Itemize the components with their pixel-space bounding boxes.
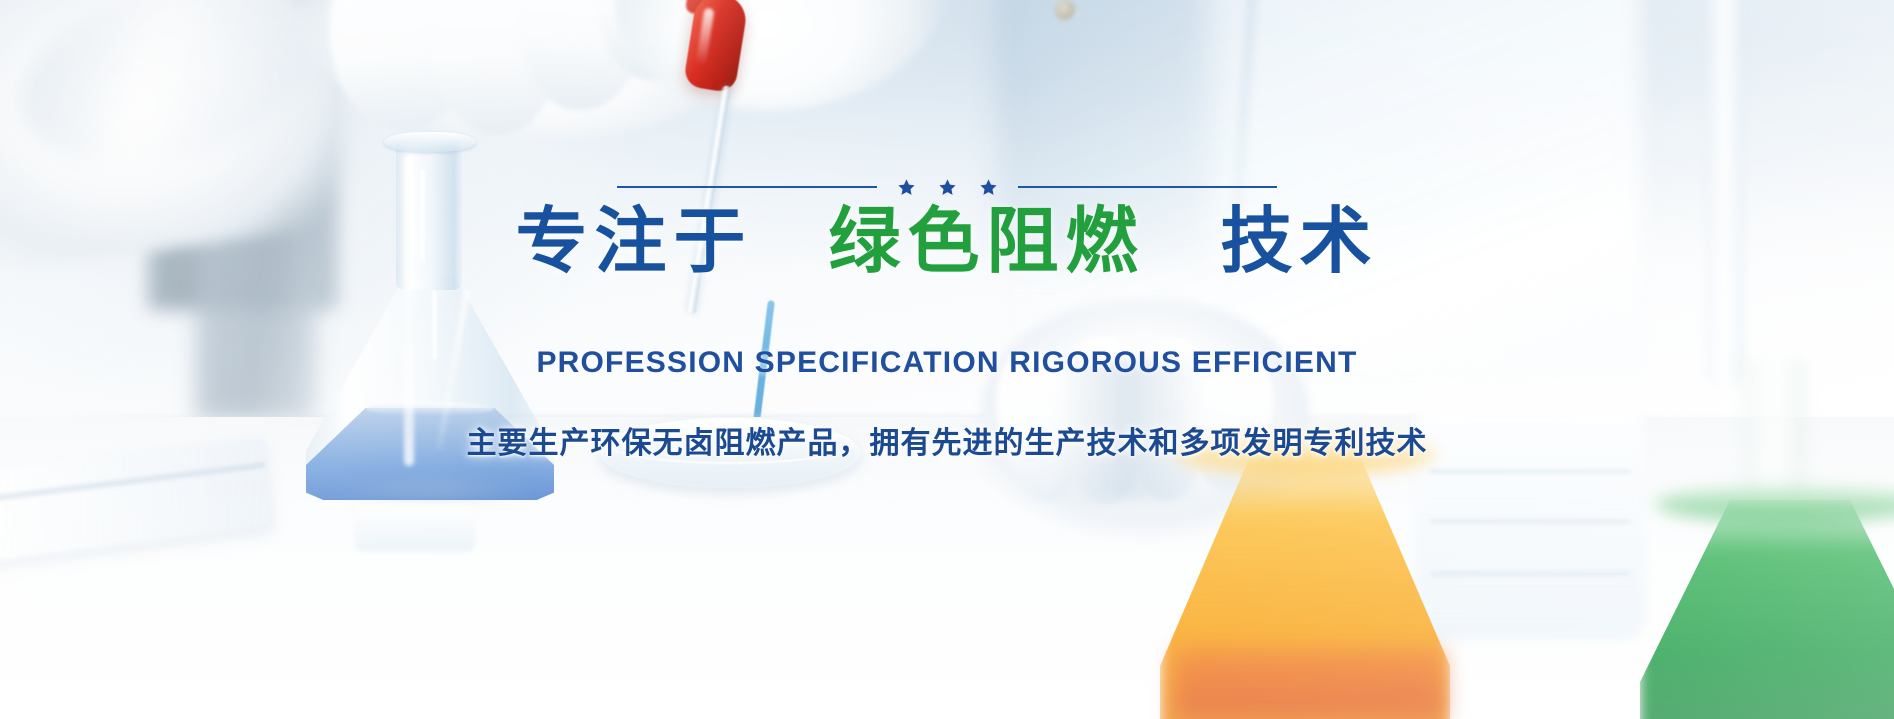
- headline-part-2: 绿色阻燃: [828, 202, 1144, 282]
- banner-subtitle: PROFESSION SPECIFICATION RIGOROUS EFFICI…: [536, 346, 1357, 380]
- star-divider: [617, 176, 1277, 198]
- page-title: 专注于 绿色阻燃 技术: [515, 204, 1378, 282]
- divider-rule-right: [1018, 186, 1278, 188]
- banner-text-overlay: 专注于 绿色阻燃 技术 PROFESSION SPECIFICATION RIG…: [0, 0, 1894, 719]
- headline-part-3: 技术: [1221, 202, 1379, 282]
- divider-stars: [897, 178, 998, 197]
- hero-banner: 专注于 绿色阻燃 技术 PROFESSION SPECIFICATION RIG…: [0, 0, 1894, 719]
- star-icon: [897, 178, 916, 197]
- star-icon: [979, 178, 998, 197]
- star-icon: [938, 178, 957, 197]
- banner-description: 主要生产环保无卤阻燃产品，拥有先进的生产技术和多项发明专利技术: [467, 418, 1428, 462]
- headline-part-1: 专注于: [515, 202, 752, 282]
- divider-rule-left: [617, 186, 877, 188]
